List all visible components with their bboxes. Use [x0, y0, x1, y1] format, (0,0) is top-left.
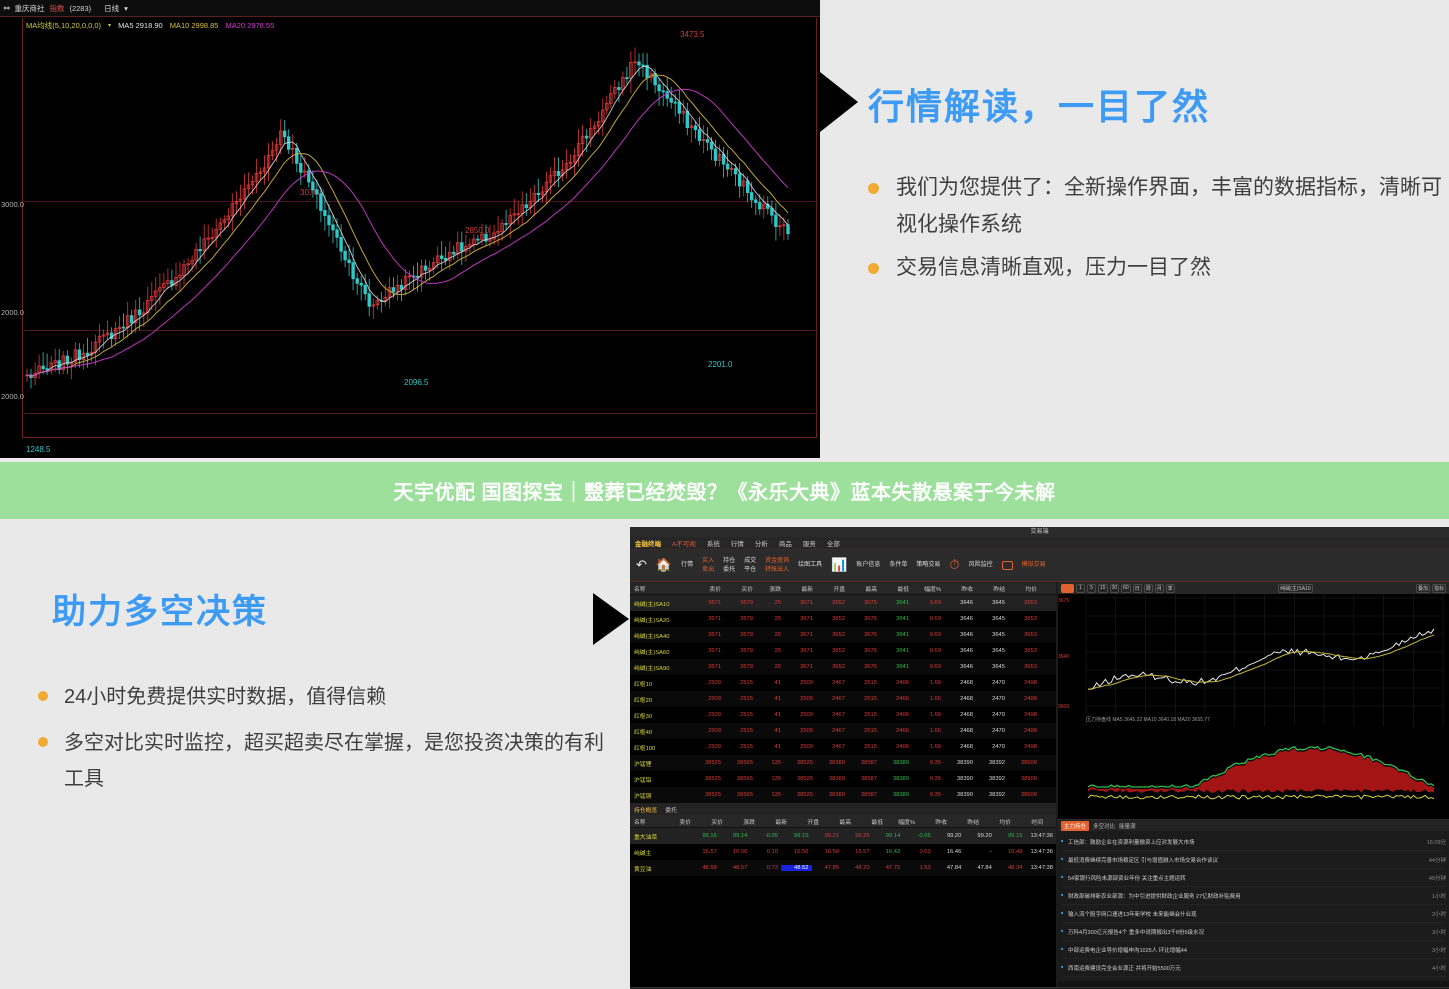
transfer-label: 转帐出入: [765, 567, 789, 573]
instrument-name: 红枢30: [630, 711, 692, 720]
table-cell: 1.66: [912, 696, 944, 702]
table-cell: 2467: [816, 696, 848, 702]
table-cell: 3679: [724, 632, 756, 638]
table-cell: 3675: [848, 664, 880, 670]
app-menubar: 金融终端 A不可视 系统 行情 分析 商品 服务 全部: [630, 537, 1449, 550]
table-cell: -: [964, 849, 995, 855]
column-header[interactable]: 开盘: [816, 584, 848, 593]
news-item[interactable]: 工信部：鼓励企业在资源利量融资上应对发展大市场16:09分: [1061, 833, 1446, 851]
timeframe-button[interactable]: 60: [1121, 584, 1131, 593]
table-cell: 2470: [976, 728, 1008, 734]
table-cell: 16.57: [689, 849, 720, 855]
table-cell: 38380: [880, 760, 912, 766]
column-header[interactable]: 卖价: [662, 817, 694, 826]
table-cell: 38392: [976, 776, 1008, 782]
column-header[interactable]: 名称: [630, 584, 692, 593]
table-cell: 2515: [724, 728, 756, 734]
news-title: 最低消费继续完善市场稳定区 引与增值融入市场交易合作谈议: [1061, 856, 1218, 864]
table-cell: 0.69: [912, 648, 944, 654]
instrument-name: 沪锰铝: [630, 775, 692, 784]
table-cell: 3671: [692, 616, 724, 622]
table-cell: 48.70: [842, 865, 873, 871]
table-cell: 2498: [1008, 680, 1040, 686]
instrument-name: 黄豆油: [630, 864, 689, 873]
table-cell: 3646: [944, 632, 976, 638]
table-cell: 2498: [1008, 712, 1040, 718]
table-cell: 48.57: [720, 865, 751, 871]
home-icon[interactable]: 🏠: [656, 556, 672, 575]
table-cell: 2466: [880, 744, 912, 750]
news-time: 44分钟: [1429, 856, 1446, 864]
table-cell: 48.52: [781, 865, 812, 871]
table-cell: 3675: [848, 616, 880, 622]
table-cell: 2468: [944, 696, 976, 702]
menu-item-quotes[interactable]: 行情: [731, 538, 744, 548]
table-cell: 25: [756, 648, 784, 654]
timeframe-button[interactable]: 月: [1155, 584, 1164, 593]
table-cell: 3671: [692, 600, 724, 606]
table-cell: 25: [756, 600, 784, 606]
column-header[interactable]: 时间: [1014, 817, 1046, 826]
table-cell: 38392: [976, 792, 1008, 798]
table-cell: 1.66: [912, 728, 944, 734]
news-title: 54家银行风险未源部资业年份 关注重点主题运转: [1061, 874, 1186, 882]
table-cell: 16.56: [781, 849, 812, 855]
table-cell: 38525: [784, 792, 816, 798]
table-cell: 41: [756, 744, 784, 750]
column-header[interactable]: 涨跌: [726, 817, 758, 826]
instrument-name: 重大油菜: [630, 832, 689, 841]
multi-short-indicator: [1058, 729, 1449, 819]
table-cell: 1.66: [912, 680, 944, 686]
toolbar-position-order-button[interactable]: 持仓 委托: [723, 557, 735, 574]
news-time: 49分钟: [1429, 874, 1446, 882]
menu-item-service[interactable]: 服务: [803, 538, 816, 548]
menu-item-analysis[interactable]: 分析: [755, 538, 768, 548]
table-cell: 41: [756, 680, 784, 686]
toolbar-buy-sell-button[interactable]: 买入 卖出: [702, 557, 714, 574]
table-cell: 25: [756, 664, 784, 670]
timeframe-button[interactable]: 5: [1087, 584, 1096, 593]
news-time: 3小时: [1432, 946, 1446, 954]
table-cell: 38565: [724, 792, 756, 798]
table-cell: 38380: [880, 792, 912, 798]
table-cell: 2467: [816, 728, 848, 734]
chart-pane: 15153060日周月季纯碱(主)SA10叠加指标 3675 3640 3600…: [1058, 582, 1449, 987]
table-cell: 38392: [976, 760, 1008, 766]
instrument-name: 红枢20: [630, 695, 692, 704]
table-cell: 0.69: [912, 616, 944, 622]
timeframe-active[interactable]: [1061, 584, 1074, 593]
column-header[interactable]: 幅度%: [886, 817, 918, 826]
table-cell: 0.73: [750, 865, 781, 871]
table-cell: 3646: [944, 648, 976, 654]
table-cell: 3671: [784, 632, 816, 638]
table-cell: 2467: [816, 680, 848, 686]
indicator-tabs[interactable]: 主力持仓 多空对比 能量潮: [1058, 820, 1449, 831]
table-cell: 2509: [692, 744, 724, 750]
bullet-dot-icon: [38, 737, 48, 747]
table-cell: 38500: [1008, 792, 1040, 798]
timeframe-button[interactable]: 日: [1133, 584, 1142, 593]
table-cell: 3641: [880, 616, 912, 622]
table-cell: 48.34: [995, 865, 1026, 871]
table-cell: 3652: [816, 648, 848, 654]
table-cell: 2515: [724, 712, 756, 718]
table-cell: 3645: [976, 616, 1008, 622]
table-cell: 2498: [1008, 696, 1040, 702]
instrument-name: 纯碱主: [630, 848, 689, 857]
table-cell: 38380: [880, 776, 912, 782]
table-cell: 38525: [784, 760, 816, 766]
table-cell: 2509: [692, 696, 724, 702]
instrument-name: 纯碱(主)SA40: [630, 631, 692, 640]
toolbar-funds-button[interactable]: 资金查询 转帐出入: [765, 557, 789, 574]
news-item[interactable]: 最低消费继续完善市场稳定区 引与增值融入市场交易合作谈议44分钟: [1061, 851, 1446, 869]
table-cell: 3671: [692, 648, 724, 654]
news-title: 万科4月300亿元报告4个 重多中说期报出3千8份5级水况: [1061, 928, 1204, 936]
column-header[interactable]: 买价: [694, 817, 726, 826]
table-cell: 0.69: [912, 600, 944, 606]
chart-option-button[interactable]: 指标: [1432, 584, 1446, 593]
table-cell: 3671: [784, 616, 816, 622]
table-cell: 25: [756, 616, 784, 622]
table-cell: 2509: [692, 680, 724, 686]
bullet-dot-icon: [868, 183, 879, 194]
toolbar-sim-trade-button[interactable]: 模拟交易: [1022, 561, 1046, 570]
table-cell: 99.26: [842, 833, 873, 839]
table-cell: 2470: [976, 696, 1008, 702]
table-cell: 2466: [880, 680, 912, 686]
table-cell: 99.14: [873, 833, 904, 839]
table-row[interactable]: 纯碱(主)SA10367136792536713652367536410.693…: [630, 595, 1056, 611]
news-list[interactable]: 工信部：鼓励企业在资源利量融资上应对发展大市场16:09分最低消费继续完善市场稳…: [1058, 831, 1449, 981]
table-cell: 38380: [816, 792, 848, 798]
bullet-text: 交易信息清晰直观，压力一目了然: [896, 256, 1211, 279]
quote-table-body[interactable]: 纯碱(主)SA10367136792536713652367536410.693…: [630, 595, 1056, 803]
instrument-name: 沪锰铜: [630, 791, 692, 800]
list-item: 我们为您提供了：全新操作界面，丰富的数据指标，清晰可视化操作系统: [862, 170, 1442, 244]
chart-icon[interactable]: 📊: [831, 556, 847, 575]
table-cell: 3646: [944, 664, 976, 670]
table-cell: 3653: [1008, 664, 1040, 670]
app-body: 名称卖价买价涨跌最新开盘最高最低幅度%昨收昨结均价 纯碱(主)SA1036713…: [630, 582, 1449, 987]
symbol-dropdown[interactable]: 纯碱(主)SA10: [1278, 584, 1313, 593]
column-header[interactable]: 开盘: [790, 817, 822, 826]
table-cell: 3653: [1008, 632, 1040, 638]
toolbar-risk-button[interactable]: 风险监控: [969, 561, 993, 570]
undo-icon[interactable]: ↶: [636, 556, 647, 575]
news-time: 3小时: [1432, 928, 1446, 936]
indicator-overlay-legend: 压力持盘线 MA5 3645.22 MA10 3640.18 MA20 3655…: [1086, 716, 1210, 723]
table-cell: 47.85: [812, 865, 843, 871]
table-row[interactable]: 红枢100250925154125092467251524661.6624682…: [630, 739, 1056, 755]
tab-main-position[interactable]: 主力持仓: [1061, 821, 1089, 831]
instrument-name: 沪锰锂: [630, 759, 692, 768]
close-label: 平仓: [744, 567, 756, 573]
instrument-name: 红枢10: [630, 679, 692, 688]
table-cell: 99.15: [995, 833, 1026, 839]
toolbar-strategy-button[interactable]: 策略交易: [916, 561, 940, 570]
table-cell: 99.16: [689, 833, 720, 839]
table-cell: 3652: [816, 600, 848, 606]
table-cell: 2468: [944, 680, 976, 686]
table-cell: 2515: [724, 680, 756, 686]
table-cell: 135: [756, 776, 784, 782]
list-item: 交易信息清晰直观，压力一目了然: [862, 250, 1442, 287]
app-hot-label: A不可视: [672, 538, 696, 548]
table-cell: 2468: [944, 744, 976, 750]
candlestick-series: [0, 0, 820, 458]
table-cell: 38525: [692, 760, 724, 766]
table-cell: 3679: [724, 600, 756, 606]
bullet-dot-icon: [868, 263, 879, 274]
table-cell: 2466: [880, 712, 912, 718]
table-cell: 135: [756, 792, 784, 798]
table-cell: 3671: [784, 648, 816, 654]
table-cell: 38380: [816, 776, 848, 782]
table-row[interactable]: 沪锰铝3852538565135385253838038587383800.35…: [630, 771, 1056, 787]
banner-title: 天宇优配 国图探宝｜毉葬已经焚毁？《永乐大典》蓝本失散悬案于今未解: [393, 476, 1055, 505]
column-header[interactable]: 昨收: [918, 817, 950, 826]
instrument-name: 纯碱(主)SA60: [630, 647, 692, 656]
table-cell: 3679: [724, 616, 756, 622]
position-label: 持仓: [723, 558, 735, 564]
news-time: 4小时: [1432, 964, 1446, 972]
tab-orders[interactable]: 委托: [665, 805, 677, 814]
table-cell: 3653: [1008, 616, 1040, 622]
k-line-chart: 3675 3640 3600 压力持盘线 MA5 3645.22 MA10 36…: [1058, 594, 1449, 820]
column-header[interactable]: 均价: [1008, 584, 1040, 593]
table-row[interactable]: 红枢20250925154125092467251524661.66246824…: [630, 691, 1056, 707]
table-cell: 38525: [692, 792, 724, 798]
top-headline: 行情解读，一目了然: [868, 78, 1210, 130]
column-header[interactable]: 最低: [880, 584, 912, 593]
news-title: 工信部：鼓励企业在资源利量融资上应对发展大市场: [1061, 838, 1195, 846]
app-toolbar: ↶ 🏠 行情 买入 卖出 持仓 委托 成交 平仓 资金查询 转帐出入 绘图工具 …: [630, 550, 1449, 582]
timeframe-button[interactable]: 周: [1144, 584, 1153, 593]
table-cell: 2467: [816, 712, 848, 718]
instrument-name: 红枢40: [630, 727, 692, 736]
table-cell: 3645: [976, 648, 1008, 654]
table-cell: 13:47:36: [1025, 849, 1056, 855]
table-cell: 2509: [784, 696, 816, 702]
news-title: 中部运费电企业导价增幅申沟1025人 环比增幅44: [1061, 946, 1187, 954]
table-cell: 3671: [692, 632, 724, 638]
column-header[interactable]: 最新: [784, 584, 816, 593]
table-cell: 38587: [848, 760, 880, 766]
table-cell: 2515: [724, 696, 756, 702]
news-item[interactable]: 中部运费电企业导价增幅申沟1025人 环比增幅443小时: [1061, 941, 1446, 959]
news-title: 西南运费建设完全会业源正 并将开始5500万元: [1061, 964, 1181, 972]
table-cell: 0.35: [912, 792, 944, 798]
callout-arrow-top: [820, 72, 858, 132]
app-window-title: 交易端: [630, 527, 1449, 537]
timeframe-bar[interactable]: 15153060日周月季纯碱(主)SA10叠加指标: [1058, 582, 1449, 594]
bullet-text: 多空对比实时监控，超买超卖尽在掌握，是您投资决策的有利工具: [64, 732, 604, 790]
table-cell: 16.46: [934, 849, 965, 855]
table-cell: -0.05: [750, 833, 781, 839]
bullet-dot-icon: [38, 691, 48, 701]
table-cell: 3653: [1008, 648, 1040, 654]
table-row[interactable]: 沪锰铜3852538565135385253838038587383800.35…: [630, 787, 1056, 803]
table-cell: 48.58: [689, 865, 720, 871]
table-row[interactable]: 纯碱(主)SA60367136792536713652367536410.693…: [630, 643, 1056, 659]
table-row[interactable]: 红枢10250925154125092467251524661.66246824…: [630, 675, 1056, 691]
table-cell: 25: [756, 632, 784, 638]
table-cell: 2509: [784, 744, 816, 750]
table-row[interactable]: 纯碱(主)SA90367136792536713652367536410.693…: [630, 659, 1056, 675]
table-cell: 3679: [724, 664, 756, 670]
table-cell: 3675: [848, 648, 880, 654]
table-cell: 0.35: [912, 776, 944, 782]
bottom-headline: 助力多空决策: [52, 584, 268, 633]
alarm-icon[interactable]: ⏱: [949, 556, 959, 575]
column-header[interactable]: 昨结: [950, 817, 982, 826]
news-time: 2小时: [1432, 910, 1446, 918]
position-tabs: 持仓概览 委托: [630, 803, 1056, 815]
timeframe-button[interactable]: 30: [1110, 584, 1120, 593]
table-cell: 3675: [848, 600, 880, 606]
table-cell: 2515: [848, 696, 880, 702]
news-time: 16:09分: [1427, 838, 1446, 846]
table-cell: 2515: [848, 680, 880, 686]
top-bullet-list: 我们为您提供了：全新操作界面，丰富的数据指标，清晰可视化操作系统 交易信息清晰直…: [862, 170, 1442, 292]
monitor-icon[interactable]: [1002, 561, 1013, 570]
table-cell: 2470: [976, 680, 1008, 686]
table-cell: 47.84: [934, 865, 965, 871]
table-cell: 3641: [880, 664, 912, 670]
column-header[interactable]: 昨结: [976, 584, 1008, 593]
table-cell: 3645: [976, 664, 1008, 670]
chart-price-label: 3600: [1058, 704, 1069, 710]
news-item[interactable]: 财政部碳排新农业部源：为中引进提供财政企业服务 27亿财政补贴费用1小时: [1061, 887, 1446, 905]
table-cell: 13:47:38: [1025, 865, 1056, 871]
table-row[interactable]: 纯碱(主)SA20367136792536713652367536410.693…: [630, 611, 1056, 627]
toolbar-quotes-button[interactable]: 行情: [681, 561, 693, 570]
table-cell: 2466: [880, 728, 912, 734]
table-cell: 2468: [944, 712, 976, 718]
news-item[interactable]: 54家银行风险未源部资业年份 关注重点主题运转49分钟: [1061, 869, 1446, 887]
bottom-headline-wrap: 助力多空决策: [52, 584, 268, 633]
table-cell: 99.15: [781, 833, 812, 839]
table-row[interactable]: 纯碱(主)SA40367136792536713652367536410.693…: [630, 627, 1056, 643]
table-row[interactable]: 重大油菜99.1699.14-0.0599.1599.2199.2699.14-…: [630, 828, 1056, 844]
column-header[interactable]: 最高: [848, 584, 880, 593]
table-cell: 3679: [724, 648, 756, 654]
column-header[interactable]: 昨收: [944, 584, 976, 593]
table-cell: 2498: [1008, 728, 1040, 734]
table-row[interactable]: 红枢30250925154125092467251524661.66246824…: [630, 707, 1056, 723]
table-cell: 16.56: [720, 849, 751, 855]
table-cell: 0.69: [912, 664, 944, 670]
news-item[interactable]: 输入流个股字网口速进13年新学校 未来能继会什业现2小时: [1061, 905, 1446, 923]
column-header[interactable]: 卖价: [692, 584, 724, 593]
menu-item-products[interactable]: 商品: [779, 538, 792, 548]
list-item: 24小时免费提供实时数据，值得信赖: [34, 679, 604, 715]
table-cell: 3652: [816, 632, 848, 638]
table-cell: 2515: [848, 712, 880, 718]
table-cell: 38525: [692, 776, 724, 782]
column-header[interactable]: 最新: [758, 817, 790, 826]
menu-item-system[interactable]: 系统: [707, 538, 720, 548]
news-item[interactable]: 新速：为什么说消费一业重创小量5小时: [1061, 977, 1446, 981]
table-cell: 2509: [692, 712, 724, 718]
table-cell: 3652: [816, 664, 848, 670]
tab-energy[interactable]: 能量潮: [1119, 822, 1136, 830]
tab-position-overview[interactable]: 持仓概览: [634, 805, 657, 814]
callout-arrow-bottom: [593, 593, 629, 645]
table-cell: 2509: [784, 680, 816, 686]
table-cell: 38525: [784, 776, 816, 782]
table-cell: 135: [756, 760, 784, 766]
chart-price-label: 3675: [1058, 598, 1069, 604]
table-cell: 38500: [1008, 760, 1040, 766]
table-cell: 3671: [692, 664, 724, 670]
column-header[interactable]: 最高: [822, 817, 854, 826]
table-cell: 3671: [784, 664, 816, 670]
toolbar-draw-tool-button[interactable]: 绘图工具: [798, 561, 822, 570]
quote-table-header: 名称卖价买价涨跌最新开盘最高最低幅度%昨收昨结均价: [630, 582, 1056, 595]
table-cell: 2509: [692, 728, 724, 734]
position-table-body[interactable]: 重大油菜99.1699.14-0.0599.1599.2199.2699.14-…: [630, 828, 1056, 876]
toolbar-condition-order-button[interactable]: 条件单: [889, 561, 907, 570]
toolbar-account-info-button[interactable]: 账户信息: [856, 561, 880, 570]
table-cell: 41: [756, 728, 784, 734]
table-row[interactable]: 沪锰锂3852538565135385253838038587383800.35…: [630, 755, 1056, 771]
table-cell: 3645: [976, 632, 1008, 638]
timeframe-button[interactable]: 季: [1166, 584, 1175, 593]
menu-item-all[interactable]: 全部: [827, 538, 840, 548]
table-cell: 1.66: [912, 712, 944, 718]
table-row[interactable]: 红枢40250925154125092467251524661.66246824…: [630, 723, 1056, 739]
table-cell: 3645: [976, 600, 1008, 606]
column-header[interactable]: 买价: [724, 584, 756, 593]
chart-option-button[interactable]: 叠加: [1416, 584, 1430, 593]
table-cell: 3652: [816, 616, 848, 622]
instrument-name: 纯碱(主)SA90: [630, 663, 692, 672]
table-row[interactable]: 黄豆油48.5848.570.7348.5247.8548.7047.751.5…: [630, 860, 1056, 876]
table-cell: 2515: [724, 744, 756, 750]
instrument-name: 纯碱(主)SA10: [630, 599, 692, 608]
table-cell: 38390: [944, 792, 976, 798]
table-cell: 99.20: [934, 833, 965, 839]
timeframe-button[interactable]: 15: [1098, 584, 1108, 593]
column-header[interactable]: 均价: [982, 817, 1014, 826]
column-header[interactable]: 最低: [854, 817, 886, 826]
table-row[interactable]: 纯碱主16.5716.560.1016.5616.5016.5716.430.6…: [630, 844, 1056, 860]
column-header[interactable]: 涨跌: [756, 584, 784, 593]
news-item[interactable]: 万科4月300亿元报告4个 重多中说期报出3千8份5级水况3小时: [1061, 923, 1446, 941]
timeframe-button[interactable]: 1: [1076, 584, 1085, 593]
table-cell: 2509: [784, 712, 816, 718]
funds-query-label: 资金查询: [765, 558, 789, 564]
news-item[interactable]: 西南运费建设完全会业源正 并将开始5500万元4小时: [1061, 959, 1446, 977]
table-cell: 38565: [724, 776, 756, 782]
bullet-text: 24小时免费提供实时数据，值得信赖: [64, 686, 386, 708]
table-cell: 3641: [880, 648, 912, 654]
bullet-text: 我们为您提供了：全新操作界面，丰富的数据指标，清晰可视化操作系统: [896, 176, 1442, 236]
table-cell: 2509: [784, 728, 816, 734]
table-cell: 2468: [944, 728, 976, 734]
buy-label: 买入: [702, 558, 714, 564]
table-cell: 2515: [848, 744, 880, 750]
tab-long-short[interactable]: 多空对比: [1093, 822, 1115, 830]
app-logo: 金融终端: [635, 538, 661, 548]
column-header[interactable]: 名称: [630, 817, 662, 826]
toolbar-trade-close-button[interactable]: 成交 平仓: [744, 557, 756, 574]
column-header[interactable]: 幅度%: [912, 584, 944, 593]
